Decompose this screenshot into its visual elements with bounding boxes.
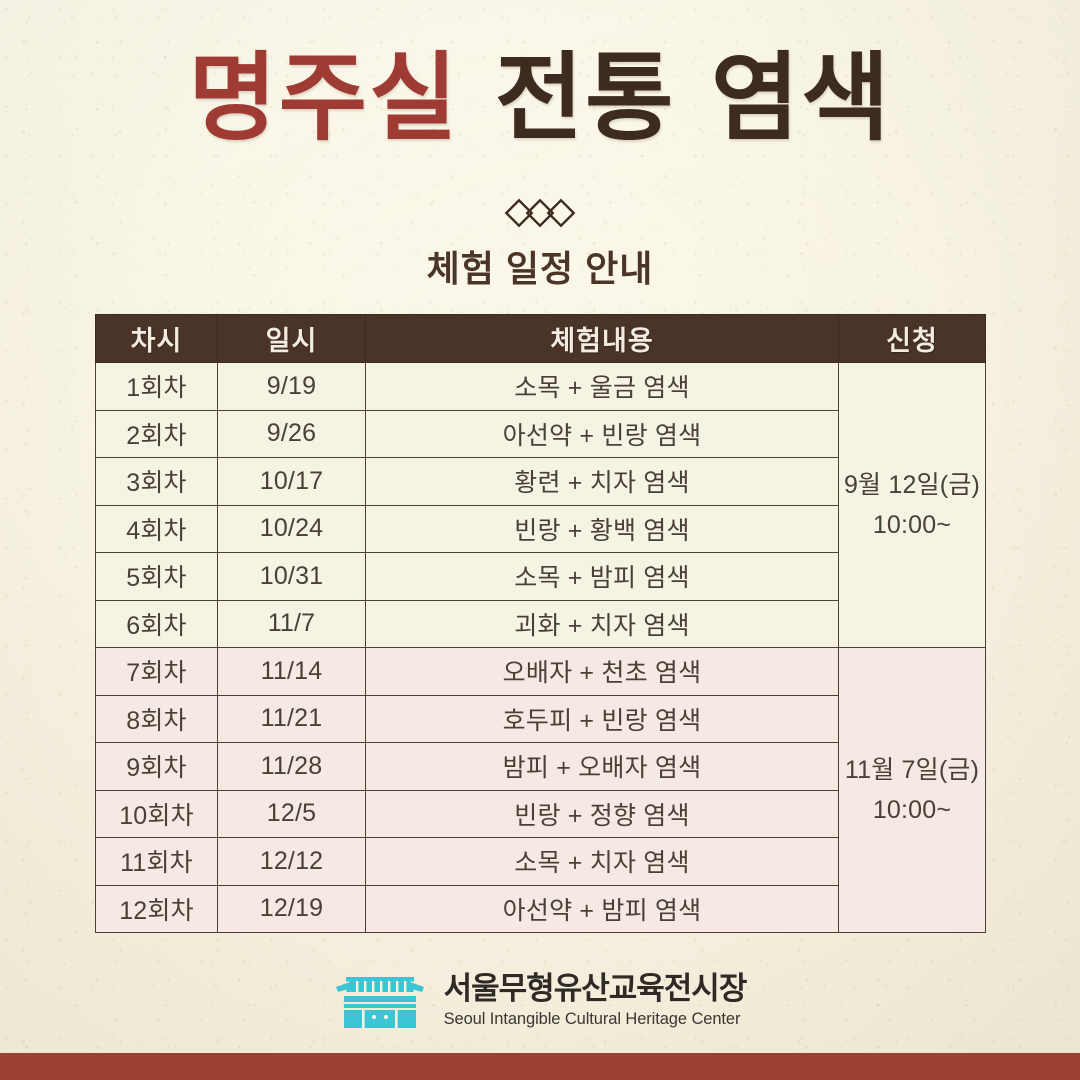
cell-session: 12회차 bbox=[96, 885, 218, 933]
column-header-apply: 신청 bbox=[839, 315, 986, 363]
cell-session: 5회차 bbox=[96, 553, 218, 601]
cell-date: 12/12 bbox=[218, 838, 366, 886]
footer-text-block: 서울무형유산교육전시장 Seoul Intangible Cultural He… bbox=[444, 972, 747, 1030]
cell-date: 11/28 bbox=[218, 743, 366, 791]
cell-content: 아선약 + 빈랑 염색 bbox=[366, 410, 839, 458]
cell-session: 6회차 bbox=[96, 600, 218, 648]
title-highlight: 명주실 bbox=[188, 41, 459, 154]
ornament-row bbox=[0, 198, 1080, 228]
cell-content: 빈랑 + 정향 염색 bbox=[366, 790, 839, 838]
cell-content: 오배자 + 천초 염색 bbox=[366, 648, 839, 696]
apply-time-line: 10:00~ bbox=[839, 505, 985, 546]
cell-apply-period: 11월 7일(금)10:00~ bbox=[839, 648, 986, 933]
schedule-table: 차시 일시 체험내용 신청 1회차9/19소목 + 울금 염색9월 12일(금)… bbox=[95, 314, 986, 933]
organization-name-korean: 서울무형유산교육전시장 bbox=[444, 972, 747, 1005]
cell-date: 11/14 bbox=[218, 648, 366, 696]
cell-date: 10/31 bbox=[218, 553, 366, 601]
table-header-row: 차시 일시 체험내용 신청 bbox=[96, 315, 986, 363]
cell-date: 10/17 bbox=[218, 458, 366, 506]
cell-apply-period: 9월 12일(금)10:00~ bbox=[839, 363, 986, 648]
column-header-session: 차시 bbox=[96, 315, 218, 363]
hanok-pavilion-icon bbox=[334, 970, 426, 1032]
apply-date-line: 9월 12일(금) bbox=[839, 465, 985, 506]
apply-time-line: 10:00~ bbox=[839, 790, 985, 831]
column-header-content: 체험내용 bbox=[366, 315, 839, 363]
cell-session: 10회차 bbox=[96, 790, 218, 838]
cell-session: 7회차 bbox=[96, 648, 218, 696]
diamond-lattice-ornament bbox=[504, 198, 576, 228]
cell-session: 1회차 bbox=[96, 363, 218, 411]
footer-branding: 서울무형유산교육전시장 Seoul Intangible Cultural He… bbox=[0, 970, 1080, 1032]
cell-content: 소목 + 울금 염색 bbox=[366, 363, 839, 411]
poster-page: 명주실 전통 염색 체험 일정 안내 차시 일시 체험내용 신청 bbox=[0, 0, 1080, 1080]
cell-content: 밤피 + 오배자 염색 bbox=[366, 743, 839, 791]
title-block: 명주실 전통 염색 bbox=[0, 44, 1080, 152]
cell-date: 11/7 bbox=[218, 600, 366, 648]
cell-date: 9/19 bbox=[218, 363, 366, 411]
schedule-table-body: 1회차9/19소목 + 울금 염색9월 12일(금)10:00~2회차9/26아… bbox=[96, 363, 986, 933]
schedule-table-wrapper: 차시 일시 체험내용 신청 1회차9/19소목 + 울금 염색9월 12일(금)… bbox=[95, 314, 985, 933]
cell-content: 소목 + 밤피 염색 bbox=[366, 553, 839, 601]
apply-date-line: 11월 7일(금) bbox=[839, 750, 985, 791]
cell-date: 12/5 bbox=[218, 790, 366, 838]
title-rest bbox=[459, 41, 494, 154]
cell-content: 아선약 + 밤피 염색 bbox=[366, 885, 839, 933]
cell-session: 9회차 bbox=[96, 743, 218, 791]
cell-session: 11회차 bbox=[96, 838, 218, 886]
cell-session: 8회차 bbox=[96, 695, 218, 743]
cell-date: 9/26 bbox=[218, 410, 366, 458]
table-row: 7회차11/14오배자 + 천초 염색11월 7일(금)10:00~ bbox=[96, 648, 986, 696]
organization-name-english: Seoul Intangible Cultural Heritage Cente… bbox=[444, 1009, 747, 1030]
cell-date: 11/21 bbox=[218, 695, 366, 743]
cell-date: 12/19 bbox=[218, 885, 366, 933]
subtitle: 체험 일정 안내 bbox=[0, 240, 1080, 292]
title-secondary: 전통 염색 bbox=[495, 41, 892, 154]
bottom-accent-bar bbox=[0, 1053, 1080, 1080]
column-header-date: 일시 bbox=[218, 315, 366, 363]
cell-content: 빈랑 + 황백 염색 bbox=[366, 505, 839, 553]
cell-content: 호두피 + 빈랑 염색 bbox=[366, 695, 839, 743]
cell-content: 소목 + 치자 염색 bbox=[366, 838, 839, 886]
cell-session: 2회차 bbox=[96, 410, 218, 458]
cell-date: 10/24 bbox=[218, 505, 366, 553]
cell-content: 괴화 + 치자 염색 bbox=[366, 600, 839, 648]
cell-session: 4회차 bbox=[96, 505, 218, 553]
page-title: 명주실 전통 염색 bbox=[0, 44, 1080, 152]
table-row: 1회차9/19소목 + 울금 염색9월 12일(금)10:00~ bbox=[96, 363, 986, 411]
cell-content: 황련 + 치자 염색 bbox=[366, 458, 839, 506]
cell-session: 3회차 bbox=[96, 458, 218, 506]
